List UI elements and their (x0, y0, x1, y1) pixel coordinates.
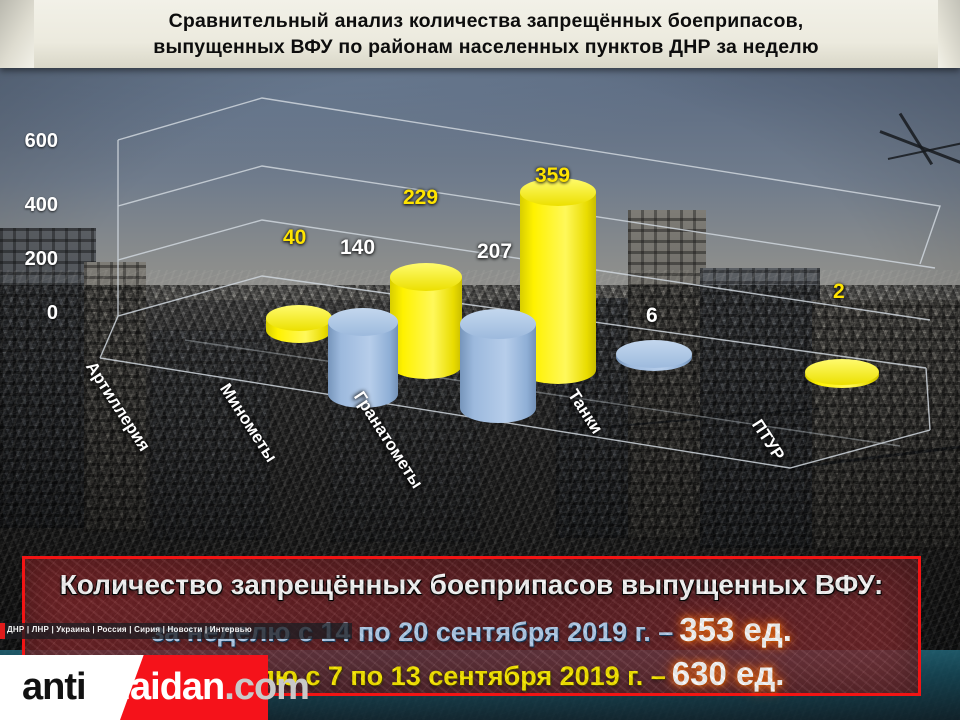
logo-text-com: .com (224, 666, 309, 708)
bar-artilleriya-40 (266, 305, 332, 343)
chart-canvas (0, 68, 960, 538)
logo-wordmark: anti-maidan.com (22, 667, 332, 707)
site-logo[interactable]: anti-maidan.com (0, 655, 330, 720)
bar-ptur (805, 359, 879, 388)
page-title-line2: выпущенных ВФУ по районам населенных пун… (50, 34, 922, 60)
bar-tanki-6 (616, 340, 692, 371)
data-label-359: 359 (535, 164, 570, 188)
site-nav-watermark[interactable]: ДНР | ЛНР | Украина | Россия | Сирия | Н… (0, 623, 352, 639)
chart-3d-bar: 600 400 200 0 40 140 229 207 359 6 2 Арт… (0, 68, 960, 538)
data-label-140: 140 (340, 236, 375, 260)
bar-granatomety-207 (460, 309, 536, 423)
y-tick-400: 400 (0, 194, 58, 217)
y-tick-200: 200 (0, 248, 58, 271)
data-label-40: 40 (283, 226, 306, 250)
summary-heading: Количество запрещённых боеприпасов выпущ… (25, 569, 918, 601)
logo-text-anti: anti (22, 666, 86, 708)
summary-row-previous-value: 630 ед. (666, 655, 785, 692)
page-title-line1: Сравнительный анализ количества запрещён… (169, 10, 804, 32)
slide-canvas: Сравнительный анализ количества запрещён… (0, 0, 960, 720)
data-label-207: 207 (477, 240, 512, 264)
bar-minomety-229 (390, 263, 462, 379)
logo-text-maidan: -maidan (86, 666, 225, 708)
header-bar: Сравнительный анализ количества запрещён… (0, 0, 960, 68)
data-label-229: 229 (403, 186, 438, 210)
page-title: Сравнительный анализ количества запрещён… (50, 8, 922, 60)
site-nav-links[interactable]: ДНР | ЛНР | Украина | Россия | Сирия | Н… (7, 625, 252, 634)
y-tick-0: 0 (0, 302, 58, 325)
data-label-6: 6 (646, 304, 658, 328)
y-tick-600: 600 (0, 130, 58, 153)
data-label-2: 2 (833, 280, 845, 304)
summary-row-current-value: 353 ед. (673, 611, 792, 648)
